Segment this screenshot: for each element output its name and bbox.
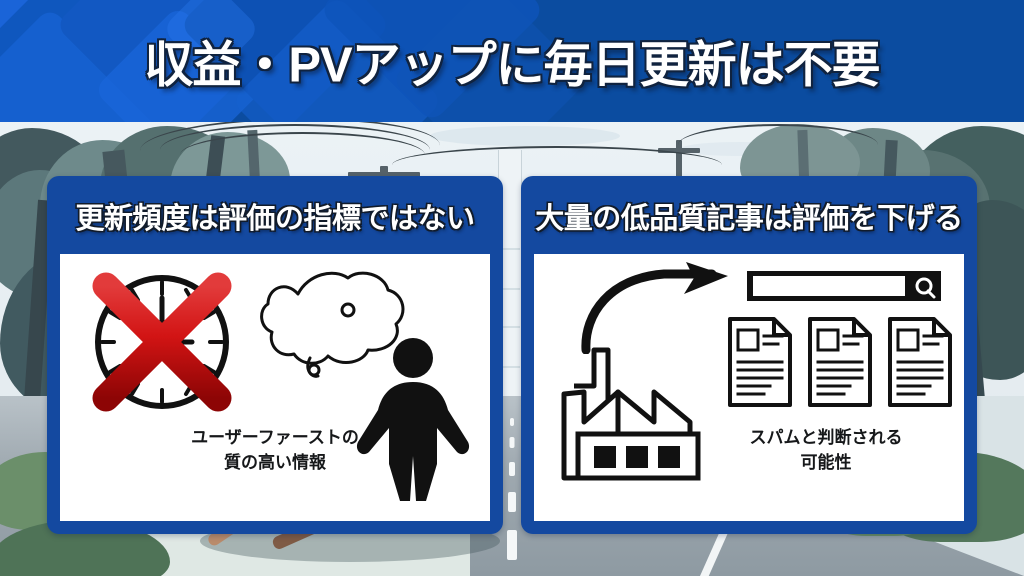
cloud-shape: [430, 126, 620, 146]
card-right-title: 大量の低品質記事は評価を下げる: [521, 192, 977, 246]
card-left-caption-line1: ユーザーファーストの: [60, 426, 490, 451]
document-icon: [726, 316, 794, 408]
card-left-title: 更新頻度は評価の指標ではない: [47, 192, 503, 246]
title-banner: 収益・PVアップに毎日更新は不要: [0, 0, 1024, 122]
page-title: 収益・PVアップに毎日更新は不要: [0, 26, 1024, 97]
card-right-caption-line1: スパムと判断される: [694, 426, 958, 451]
document-icon: [806, 316, 874, 408]
card-left-caption-line2: 質の高い情報: [60, 451, 490, 476]
document-icon: [886, 316, 954, 408]
card-right-caption: スパムと判断される 可能性: [694, 426, 958, 475]
search-bar-icon[interactable]: [744, 268, 944, 304]
card-right-caption-line2: 可能性: [694, 451, 958, 476]
card-right[interactable]: 大量の低品質記事は評価を下げる: [521, 176, 977, 534]
road-center-stripe: [508, 492, 516, 512]
road-center-stripe: [510, 437, 515, 448]
card-left-caption: ユーザーファーストの 質の高い情報: [60, 426, 490, 475]
card-right-body: スパムと判断される 可能性: [534, 254, 964, 521]
power-wire: [180, 132, 425, 178]
factory-icon: [556, 342, 706, 482]
red-cross-icon: [80, 260, 244, 424]
road-center-stripe: [509, 462, 515, 476]
document-list: [726, 316, 954, 410]
slide-canvas: 収益・PVアップに毎日更新は不要 更新頻度は評価の指標ではない: [0, 0, 1024, 576]
power-wire: [678, 124, 878, 166]
card-left[interactable]: 更新頻度は評価の指標ではない: [47, 176, 503, 534]
person-silhouette-icon: [348, 336, 478, 501]
road-center-stripe: [510, 418, 514, 426]
road-center-stripe: [507, 530, 517, 560]
card-left-body: ユーザーファーストの 質の高い情報: [60, 254, 490, 521]
